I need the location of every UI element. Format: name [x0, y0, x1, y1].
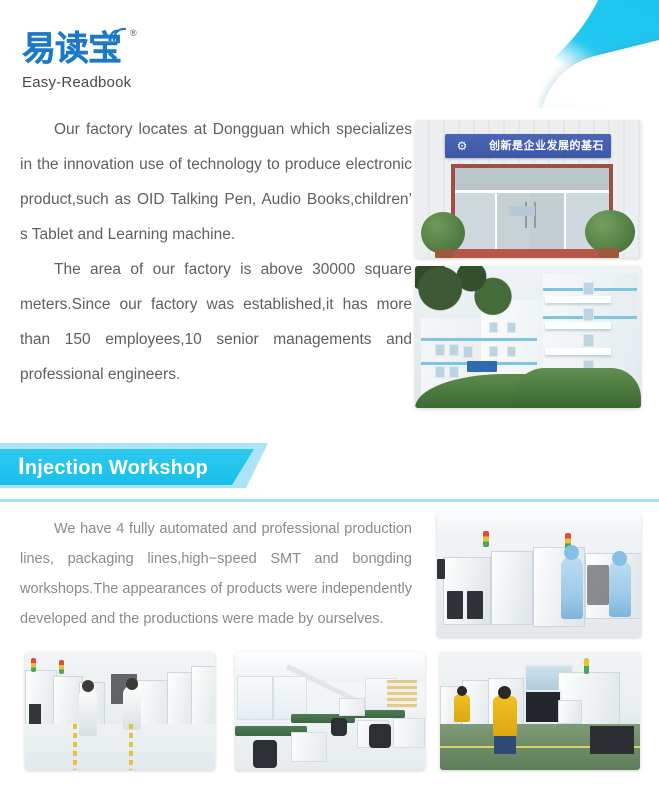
- window: [507, 346, 516, 357]
- window: [583, 308, 594, 321]
- worker-figure: [79, 688, 97, 736]
- intro-text-block: Our factory locates at Dongguan which sp…: [20, 112, 412, 392]
- entrance-signboard: ⚙ 创新是企业发展的基石: [445, 134, 611, 158]
- balcony-2: [545, 322, 611, 329]
- machine-control-panel: [558, 700, 582, 724]
- building-entrance-sign: [467, 361, 497, 372]
- smt-production-line-photo: [25, 652, 215, 770]
- window: [435, 366, 445, 378]
- interior-wall-logo: [509, 206, 535, 216]
- section-divider: [0, 499, 659, 502]
- window: [449, 366, 459, 378]
- signboard-brand-icon: ⚙: [455, 139, 469, 153]
- wall-poster: [387, 680, 417, 708]
- shrub-left: [421, 212, 465, 254]
- status-light-icon: [483, 531, 489, 547]
- window: [435, 344, 445, 356]
- office-chair: [369, 724, 391, 748]
- intro-paragraph-1: Our factory locates at Dongguan which sp…: [20, 112, 412, 252]
- factory-profile-page: 易读宝 ® Easy-Readbook Our factory locates …: [0, 0, 659, 800]
- status-light-icon: [584, 658, 589, 674]
- section-title: Injection Workshop: [18, 449, 208, 485]
- foreground-tree: [415, 266, 529, 328]
- logo-mark: 易读宝 ®: [22, 26, 162, 76]
- smtline-floor: [25, 724, 215, 770]
- transom-glass: [455, 168, 609, 193]
- bench-cabinet: [291, 732, 327, 762]
- section-title-rest: njection Workshop: [25, 457, 208, 479]
- planter-right: [599, 248, 619, 258]
- worker-head: [612, 551, 627, 566]
- office-chair: [331, 718, 347, 736]
- wifi-signal-icon: [108, 23, 130, 41]
- entrance-kerb: [451, 249, 605, 258]
- worker-figure: [454, 694, 470, 722]
- window: [463, 346, 473, 358]
- building-stripe-2: [421, 338, 537, 341]
- worker-head: [457, 686, 467, 696]
- machine-panel: [447, 591, 463, 619]
- page-curl-icon: [489, 0, 659, 108]
- section-title-initial: I: [18, 453, 25, 480]
- balcony-1: [545, 296, 611, 303]
- cleanroom-ceiling: [437, 513, 641, 539]
- balcony-3: [545, 348, 611, 355]
- machine-panel: [467, 591, 483, 619]
- intro-paragraph-2: The area of our factory is above 30000 s…: [20, 252, 412, 392]
- worker-figure: [493, 696, 517, 736]
- machine-screen: [524, 690, 562, 724]
- workshop-text-block: We have 4 fully automated and profession…: [20, 514, 412, 634]
- logo-chinese-name: 易读宝: [22, 29, 121, 69]
- logo-english-name: Easy-Readbook: [22, 74, 162, 91]
- signboard-text: 创新是企业发展的基石: [489, 134, 604, 158]
- bench-cabinet: [393, 718, 425, 748]
- section-banner-injection-workshop: Injection Workshop: [0, 443, 290, 488]
- window: [583, 334, 594, 347]
- worker-head: [498, 686, 511, 699]
- window: [449, 344, 459, 356]
- factory-entrance-photo: ⚙ 创新是企业发展的基石: [415, 120, 641, 258]
- lab-printer: [339, 698, 365, 716]
- cleanroom-machine: [491, 551, 533, 625]
- worker-figure: [609, 561, 631, 617]
- worker-figure: [561, 557, 583, 619]
- assembly-workshop-photo: [440, 652, 640, 770]
- worker-head: [564, 545, 579, 560]
- status-light-icon: [31, 658, 36, 672]
- window: [583, 282, 594, 295]
- office-chair: [253, 740, 277, 768]
- status-light-icon: [59, 660, 64, 674]
- worker-head: [126, 678, 138, 690]
- planter-left: [435, 249, 453, 258]
- workshop-paragraph: We have 4 fully automated and profession…: [20, 514, 412, 634]
- machine-panel: [437, 559, 445, 579]
- company-logo: 易读宝 ® Easy-Readbook: [22, 26, 162, 91]
- smt-cleanroom-photo: [437, 513, 641, 637]
- lab-window: [237, 676, 273, 720]
- hedge-row-right: [511, 368, 641, 408]
- engineering-lab-photo: [235, 652, 425, 770]
- registered-trademark-icon: ®: [130, 28, 137, 38]
- machine-rack: [587, 565, 609, 605]
- workshop-trolley: [590, 726, 634, 754]
- factory-building-photo: [415, 266, 641, 408]
- floor-marking: [73, 724, 77, 770]
- window: [489, 346, 498, 357]
- worker-head: [82, 680, 94, 692]
- floor-marking: [129, 724, 133, 770]
